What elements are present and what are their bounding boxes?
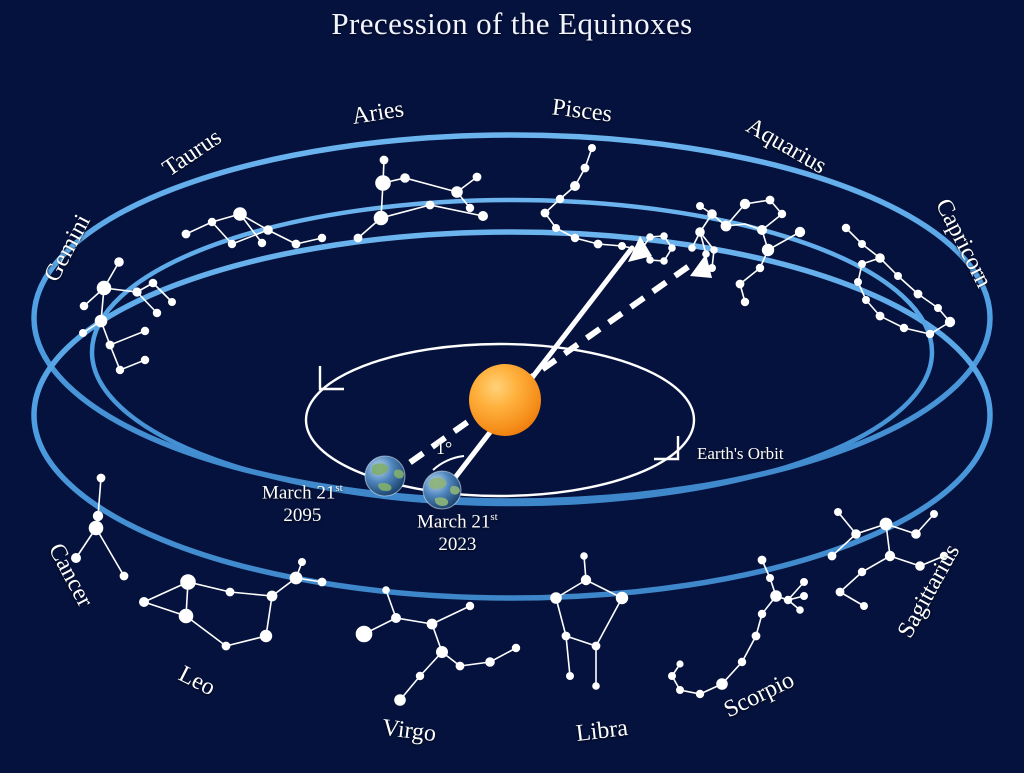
earth-2023-ordinal: st: [490, 511, 497, 523]
sky-canvas: [0, 0, 1024, 773]
sun: [469, 364, 541, 436]
constellation-leo: [140, 559, 326, 650]
constellation-taurus: [182, 208, 325, 248]
constellation-libra: [551, 553, 627, 689]
earth-2095-year: 2095: [283, 505, 321, 526]
earth-2095-label: March 21st 2095: [262, 482, 343, 527]
earth-2095-globe: [365, 456, 405, 496]
earth-2023-label: March 21st 2023: [417, 511, 498, 556]
constellation-virgo: [357, 587, 520, 705]
precession-diagram: Precession of the Equinoxes Gemini Tauru…: [0, 0, 1024, 773]
band-inner-ellipse: [92, 200, 932, 504]
constellation-capricorn: [843, 225, 955, 338]
earth-2023-date: March 21: [417, 511, 490, 532]
constellation-aquarius: [689, 196, 804, 305]
page-title: Precession of the Equinoxes: [0, 6, 1024, 42]
earth-2095-ordinal: st: [335, 482, 342, 494]
orbit-arrow-right: [654, 436, 678, 459]
angle-label: 1°: [436, 438, 452, 459]
earth-orbit-label: Earth's Orbit: [697, 444, 784, 464]
earth-2023-year: 2023: [438, 534, 476, 555]
earth-2023-globe: [423, 471, 461, 509]
earth-2095-date: March 21: [262, 482, 335, 503]
